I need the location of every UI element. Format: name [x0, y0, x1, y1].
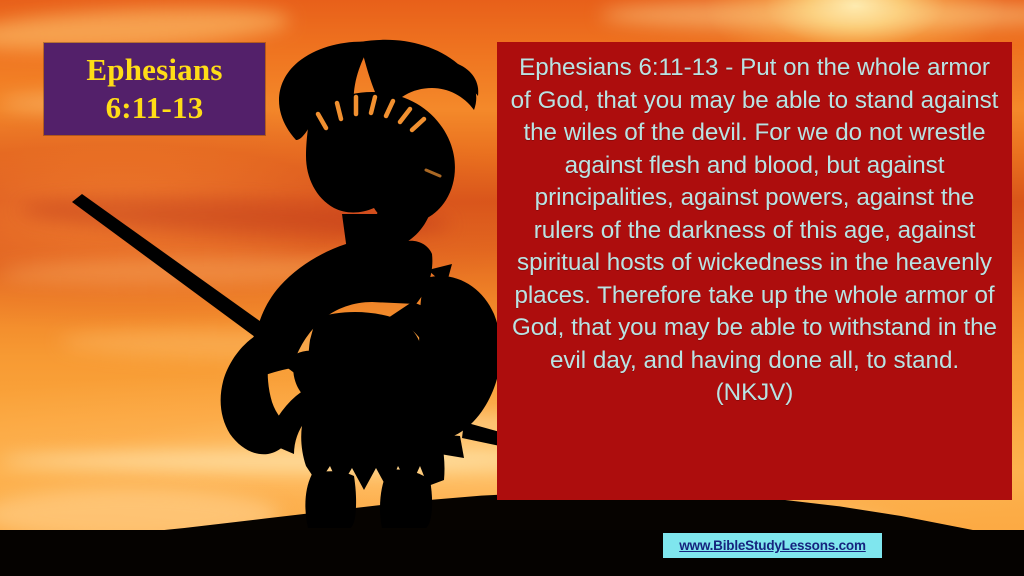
- scripture-slide: Ephesians 6:11-13 Ephesians 6:11-13 - Pu…: [0, 0, 1024, 576]
- website-url-badge[interactable]: www.BibleStudyLessons.com: [663, 533, 882, 558]
- scripture-text: Ephesians 6:11-13 - Put on the whole arm…: [509, 52, 1000, 410]
- website-url-link[interactable]: www.BibleStudyLessons.com: [679, 538, 866, 553]
- scripture-text-box: Ephesians 6:11-13 - Put on the whole arm…: [497, 42, 1012, 500]
- verse-reference-line-2: 6:11-13: [106, 89, 204, 127]
- cloud-streak: [600, 0, 1024, 30]
- verse-reference-line-1: Ephesians: [86, 51, 222, 89]
- verse-reference-badge: Ephesians 6:11-13: [44, 43, 265, 135]
